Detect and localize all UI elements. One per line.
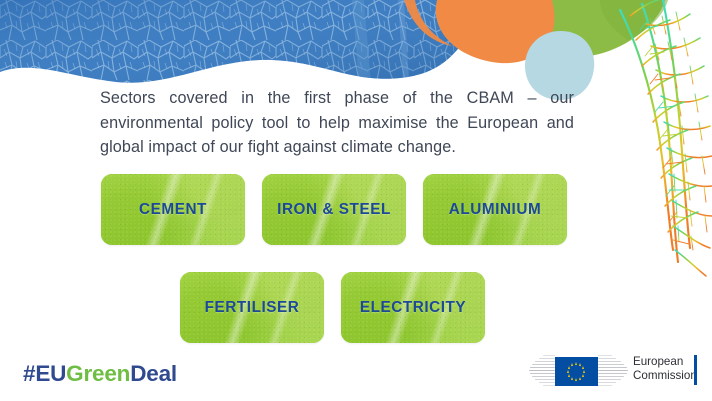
logo-wing-line <box>598 364 624 365</box>
eu-flag-star <box>575 362 577 365</box>
logo-wing-line <box>598 376 624 377</box>
hashtag-part-eu: #EU <box>23 361 66 386</box>
sector-label-iron-and-steel: IRON & STEEL <box>277 201 391 219</box>
eu-flag-star <box>567 370 569 373</box>
eu-flag-star <box>579 363 581 366</box>
logo-wing-line <box>530 367 555 368</box>
logo-wing-line <box>598 367 627 368</box>
logo-wing-line <box>598 385 612 386</box>
logo-wing-line <box>535 379 555 380</box>
sector-label-fertiliser: FERTILISER <box>205 299 300 317</box>
logo-wing-line <box>539 382 555 383</box>
eu-flag-star <box>583 370 585 373</box>
logo-wing-line <box>598 370 628 371</box>
logo-wing-line <box>598 361 621 362</box>
sector-label-electricity: ELECTRICITY <box>360 299 466 317</box>
hashtag-part-deal: Deal <box>130 361 177 386</box>
logo-wing-line <box>543 355 555 356</box>
logo-wing-line <box>535 361 555 362</box>
sector-box-iron-and-steel[interactable]: IRON & STEEL <box>262 174 406 245</box>
sector-box-cement[interactable]: CEMENT <box>101 174 245 245</box>
logo-wing-right <box>598 355 628 388</box>
logo-wing-left <box>529 355 555 388</box>
eu-flag-star <box>582 366 584 369</box>
hashtag-part-green: Green <box>66 361 130 386</box>
sector-label-cement: CEMENT <box>139 201 207 219</box>
logo-wing-line <box>539 358 555 359</box>
sector-box-fertiliser[interactable]: FERTILISER <box>180 272 324 343</box>
logo-wing-line <box>598 373 627 374</box>
logo-wing-line <box>529 370 555 371</box>
logo-wing-line <box>598 355 612 356</box>
logo-text: European Commission <box>633 355 697 384</box>
sector-label-aluminium: ALUMINIUM <box>449 201 541 219</box>
logo-wing-line <box>598 379 621 380</box>
sector-row-2: FERTILISER ELECTRICITY <box>180 272 485 343</box>
eu-flag-star <box>568 374 570 377</box>
logo-wing-line <box>543 385 555 386</box>
eu-flag-star <box>582 374 584 377</box>
sector-box-electricity[interactable]: ELECTRICITY <box>341 272 485 343</box>
logo-text-line-2: Commission <box>633 369 697 383</box>
sector-row-1: CEMENT IRON & STEEL ALUMINIUM <box>101 174 567 245</box>
logo-wing-line <box>532 376 555 377</box>
logo-blue-bar <box>694 355 697 385</box>
eu-flag-star <box>575 378 577 381</box>
eu-flag-star <box>579 377 581 380</box>
eu-flag-star <box>568 366 570 369</box>
eu-flag-star <box>571 363 573 366</box>
slide-canvas: Sectors covered in the first phase of th… <box>0 0 712 401</box>
eu-flag-star <box>571 377 573 380</box>
logo-wing-line <box>598 382 616 383</box>
logo-wing-line <box>530 373 555 374</box>
logo-text-line-1: European <box>633 355 697 369</box>
logo-wing-line <box>598 358 616 359</box>
sector-box-aluminium[interactable]: ALUMINIUM <box>423 174 567 245</box>
sector-boxes: CEMENT IRON & STEEL ALUMINIUM FERTILISER <box>0 0 712 401</box>
logo-wing-line <box>532 364 555 365</box>
european-commission-logo: European Commission <box>523 349 703 394</box>
eu-green-deal-hashtag: #EUGreenDeal <box>23 361 177 387</box>
eu-flag-icon <box>555 357 598 386</box>
